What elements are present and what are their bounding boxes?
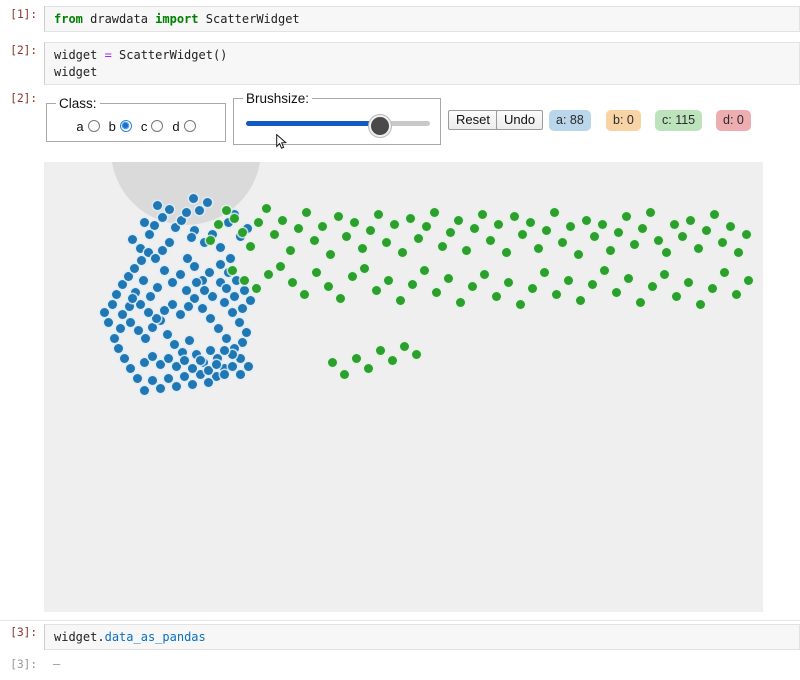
scatter-point-class-c: [566, 222, 575, 231]
radio-option-d[interactable]: d: [172, 119, 195, 134]
scatter-point-class-a: [206, 346, 215, 355]
scatter-point-class-a: [114, 344, 123, 353]
scatter-point-class-c: [660, 270, 669, 279]
scatter-point-class-c: [696, 300, 705, 309]
counter-badge-b: b: 0: [606, 110, 641, 131]
scatter-point-class-a: [120, 354, 129, 363]
scatter-point-class-a: [242, 328, 251, 337]
radio-option-c[interactable]: c: [141, 119, 164, 134]
scatter-point-class-c: [376, 346, 385, 355]
scatter-point-class-a: [168, 278, 177, 287]
scatter-point-class-a: [176, 270, 185, 279]
scatter-point-class-c: [636, 298, 645, 307]
scatter-point-class-a: [190, 262, 199, 271]
brushsize-group: Brushsize:: [233, 91, 441, 145]
scatter-point-class-c: [328, 358, 337, 367]
scatter-point-class-c: [446, 228, 455, 237]
scatter-point-class-c: [686, 216, 695, 225]
scatter-point-class-a: [206, 314, 215, 323]
scatter-point-class-a: [148, 352, 157, 361]
brushsize-slider[interactable]: [246, 110, 430, 140]
scatter-point-class-a: [222, 334, 231, 343]
scatter-point-class-c: [214, 220, 223, 229]
code-token-plain: widget: [54, 65, 97, 79]
scatter-point-class-a: [133, 374, 142, 383]
scatter-point-class-c: [364, 364, 373, 373]
class-selector-group: Class: a b c d: [46, 96, 226, 142]
scatter-point-class-a: [158, 213, 167, 222]
scatter-point-class-c: [470, 224, 479, 233]
scatter-point-class-c: [276, 262, 285, 271]
undo-button[interactable]: Undo: [496, 110, 543, 130]
scatter-widget: Class: a b c d: [44, 88, 800, 616]
scatter-point-class-c: [486, 236, 495, 245]
radio-label-c: c: [141, 119, 148, 134]
scatter-point-class-a: [189, 194, 198, 203]
scatter-point-class-c: [406, 214, 415, 223]
widget-controls: Class: a b c d: [44, 88, 800, 150]
scatter-point-class-c: [590, 232, 599, 241]
scatter-point-class-c: [246, 242, 255, 251]
scatter-point-class-c: [278, 216, 287, 225]
notebook-cell-3: [3]: widget.data_as_pandas: [0, 624, 800, 650]
scatter-point-class-a: [244, 362, 253, 371]
cell-prompt-3: [3]:: [0, 624, 44, 641]
scatter-point-class-c: [432, 288, 441, 297]
scatter-point-class-a: [110, 334, 119, 343]
scatter-point-class-c: [420, 266, 429, 275]
scatter-point-class-a: [144, 308, 153, 317]
scatter-point-class-c: [438, 242, 447, 251]
scatter-point-class-a: [246, 296, 255, 305]
mouse-cursor-icon: [276, 134, 287, 149]
scatter-point-class-c: [264, 270, 273, 279]
scatter-point-class-a: [134, 326, 143, 335]
radio-input-c[interactable]: [151, 120, 163, 132]
scatter-point-class-a: [140, 386, 149, 395]
scatter-point-class-a: [212, 360, 221, 369]
scatter-point-class-a: [236, 354, 245, 363]
scatter-point-class-c: [262, 204, 271, 213]
scatter-point-class-a: [141, 334, 150, 343]
scatter-point-class-c: [478, 210, 487, 219]
scatter-plot-canvas[interactable]: [44, 162, 763, 612]
scatter-point-class-a: [140, 218, 149, 227]
scatter-point-class-a: [140, 358, 149, 367]
scatter-point-class-c: [734, 248, 743, 257]
scatter-point-class-c: [336, 294, 345, 303]
scatter-point-class-a: [164, 374, 173, 383]
scatter-point-class-c: [396, 296, 405, 305]
scatter-point-class-a: [153, 283, 162, 292]
scatter-point-class-c: [540, 268, 549, 277]
scatter-point-class-a: [156, 384, 165, 393]
scatter-point-class-a: [236, 370, 245, 379]
counter-badge-c: c: 115: [655, 110, 702, 131]
scatter-point-class-c: [310, 236, 319, 245]
scatter-point-class-c: [334, 212, 343, 221]
scatter-point-class-a: [100, 308, 109, 317]
scatter-point-class-c: [366, 226, 375, 235]
scatter-point-class-c: [206, 236, 215, 245]
scatter-point-class-a: [146, 292, 155, 301]
scatter-point-class-c: [622, 212, 631, 221]
scatter-point-class-c: [504, 278, 513, 287]
scatter-point-class-a: [104, 318, 113, 327]
code-token-keyword: from: [54, 12, 83, 26]
brushsize-group-legend: Brushsize:: [243, 91, 312, 106]
scatter-point-class-c: [480, 270, 489, 279]
scatter-point-class-a: [205, 268, 214, 277]
scatter-point-class-c: [384, 276, 393, 285]
scatter-point-class-c: [612, 288, 621, 297]
scatter-point-class-c: [558, 238, 567, 247]
scatter-point-class-a: [139, 276, 148, 285]
code-token-plain: drawdata: [83, 12, 155, 26]
scatter-point-class-c: [720, 268, 729, 277]
scatter-point-class-a: [185, 336, 194, 345]
scatter-point-class-a: [172, 362, 181, 371]
scatter-point-class-a: [126, 318, 135, 327]
scatter-point-class-c: [286, 246, 295, 255]
scatter-point-class-c: [318, 222, 327, 231]
scatter-point-class-c: [422, 222, 431, 231]
scatter-point-class-c: [444, 274, 453, 283]
scatter-point-class-c: [516, 300, 525, 309]
notebook-cell-2: [2]: widget = ScatterWidget() widget: [0, 42, 800, 85]
scatter-point-class-a: [151, 254, 160, 263]
scatter-point-class-a: [125, 302, 134, 311]
scatter-point-class-a: [160, 266, 169, 275]
scatter-point-class-c: [350, 218, 359, 227]
scatter-point-class-a: [216, 243, 225, 252]
scatter-point-class-c: [358, 244, 367, 253]
scatter-point-class-a: [214, 324, 223, 333]
notebook-output-3: [3]: —: [0, 656, 800, 673]
scatter-point-class-c: [744, 276, 753, 285]
scatter-point-class-c: [574, 250, 583, 259]
code-token-plain: ScatterWidget: [199, 12, 300, 26]
scatter-point-class-a: [220, 298, 229, 307]
class-group-legend: Class:: [56, 96, 100, 111]
scatter-point-class-a: [180, 356, 189, 365]
radio-label-a: a: [76, 119, 83, 134]
scatter-point-class-c: [518, 230, 527, 239]
scatter-point-class-c: [742, 230, 751, 239]
scatter-point-class-c: [510, 212, 519, 221]
scatter-point-class-c: [360, 264, 369, 273]
scatter-point-class-c: [708, 284, 717, 293]
code-token-operator: =: [105, 48, 112, 62]
scatter-point-class-c: [624, 274, 633, 283]
scatter-point-class-a: [180, 372, 189, 381]
scatter-point-class-a: [118, 310, 127, 319]
scatter-point-class-a: [152, 314, 161, 323]
scatter-point-class-c: [240, 276, 249, 285]
scatter-point-class-a: [136, 300, 145, 309]
scatter-point-class-c: [388, 356, 397, 365]
scatter-point-class-a: [216, 260, 225, 269]
scatter-point-class-c: [684, 278, 693, 287]
radio-input-a[interactable]: [88, 120, 100, 132]
cell-prompt-1: [1]:: [0, 6, 44, 23]
scatter-point-class-c: [254, 218, 263, 227]
scatter-point-class-a: [148, 323, 157, 332]
scatter-point-class-a: [112, 290, 121, 299]
scatter-point-class-c: [614, 228, 623, 237]
scatter-point-class-c: [352, 354, 361, 363]
scatter-point-class-a: [198, 304, 207, 313]
scatter-point-class-c: [528, 284, 537, 293]
scatter-point-class-c: [414, 234, 423, 243]
scatter-point-class-c: [564, 276, 573, 285]
scatter-point-class-c: [456, 298, 465, 307]
scatter-point-class-a: [222, 284, 231, 293]
scatter-point-class-c: [694, 244, 703, 253]
scatter-point-class-a: [183, 254, 192, 263]
scatter-plot-surface[interactable]: [44, 162, 763, 612]
scatter-point-class-c: [710, 210, 719, 219]
cell-output-text-3: —: [44, 656, 60, 673]
scatter-point-class-a: [116, 324, 125, 333]
scatter-point-class-c: [600, 266, 609, 275]
scatter-point-class-c: [398, 248, 407, 257]
code-token-keyword: import: [155, 12, 198, 26]
scatter-point-class-a: [220, 346, 229, 355]
scatter-point-class-a: [184, 302, 193, 311]
scatter-point-class-c: [342, 232, 351, 241]
code-token-plain: widget: [54, 48, 105, 62]
scatter-point-class-a: [204, 366, 213, 375]
scatter-point-class-a: [188, 364, 197, 373]
code-token-plain: widget: [54, 630, 97, 644]
scatter-point-class-a: [118, 280, 127, 289]
scatter-point-class-c: [534, 244, 543, 253]
scatter-point-class-c: [648, 282, 657, 291]
scatter-point-class-c: [552, 290, 561, 299]
counter-badge-a: a: 88: [549, 110, 591, 131]
scatter-point-class-a: [238, 304, 247, 313]
scatter-point-class-c: [454, 216, 463, 225]
scatter-point-class-a: [228, 308, 237, 317]
scatter-point-class-a: [128, 294, 137, 303]
counter-badge-d: d: 0: [716, 110, 751, 131]
code-editor-2[interactable]: widget = ScatterWidget() widget: [44, 42, 800, 85]
scatter-point-class-a: [187, 233, 196, 242]
scatter-point-class-c: [412, 350, 421, 359]
scatter-point-class-a: [240, 286, 249, 295]
scatter-point-class-c: [288, 278, 297, 287]
scatter-point-class-a: [170, 340, 179, 349]
radio-option-a[interactable]: a: [76, 119, 99, 134]
scatter-point-class-c: [492, 292, 501, 301]
scatter-point-class-c: [340, 370, 349, 379]
scatter-point-class-c: [468, 282, 477, 291]
scatter-point-class-c: [324, 282, 333, 291]
scatter-point-class-c: [312, 268, 321, 277]
scatter-point-class-a: [145, 230, 154, 239]
code-token-plain: ScatterWidget(): [112, 48, 228, 62]
code-editor-3[interactable]: widget.data_as_pandas: [44, 624, 800, 650]
scatter-point-class-a: [168, 300, 177, 309]
scatter-point-class-a: [164, 354, 173, 363]
radio-label-b: b: [109, 119, 116, 134]
scatter-point-class-c: [588, 280, 597, 289]
scatter-point-class-a: [200, 286, 209, 295]
scatter-point-class-a: [150, 221, 159, 230]
scatter-point-class-c: [382, 238, 391, 247]
scatter-point-class-c: [390, 220, 399, 229]
scatter-point-class-a: [228, 362, 237, 371]
scatter-point-class-a: [153, 201, 162, 210]
scatter-point-class-c: [252, 284, 261, 293]
scatter-point-class-c: [732, 290, 741, 299]
scatter-point-class-c: [662, 248, 671, 257]
notebook-page: [1]: from drawdata import ScatterWidget …: [0, 0, 800, 680]
radio-input-b[interactable]: [120, 120, 132, 132]
scatter-point-class-c: [670, 220, 679, 229]
scatter-point-class-a: [220, 370, 229, 379]
scatter-point-class-a: [128, 235, 137, 244]
scatter-point-class-a: [203, 198, 212, 207]
scatter-point-class-c: [638, 224, 647, 233]
scatter-point-class-a: [238, 338, 247, 347]
scatter-point-class-c: [372, 286, 381, 295]
slider-thumb[interactable]: [369, 115, 391, 137]
scatter-point-class-c: [702, 226, 711, 235]
reset-button[interactable]: Reset: [448, 110, 498, 130]
scatter-point-class-a: [130, 264, 139, 273]
scatter-point-class-c: [400, 342, 409, 351]
radio-input-d[interactable]: [184, 120, 196, 132]
scatter-point-class-a: [182, 286, 191, 295]
notebook-cell-1: [1]: from drawdata import ScatterWidget: [0, 6, 800, 32]
scatter-point-class-a: [192, 278, 201, 287]
scatter-point-class-a: [172, 382, 181, 391]
scatter-point-class-c: [408, 280, 417, 289]
scatter-point-class-a: [148, 376, 157, 385]
scatter-point-class-a: [190, 294, 199, 303]
scatter-point-class-c: [230, 214, 239, 223]
scatter-point-class-a: [176, 310, 185, 319]
scatter-point-class-a: [126, 364, 135, 373]
scatter-point-class-c: [582, 216, 591, 225]
scatter-point-class-a: [204, 378, 213, 387]
scatter-point-class-c: [374, 210, 383, 219]
scatter-point-class-a: [235, 318, 244, 327]
scatter-point-class-a: [163, 330, 172, 339]
scatter-point-class-a: [188, 380, 197, 389]
scatter-point-class-a: [165, 238, 174, 247]
scatter-point-class-c: [270, 230, 279, 239]
scatter-point-class-c: [678, 232, 687, 241]
scatter-point-class-a: [208, 292, 217, 301]
scatter-point-class-c: [630, 240, 639, 249]
cell-output-prompt-3: [3]:: [0, 656, 44, 673]
scatter-point-class-a: [230, 292, 239, 301]
code-token-attribute: data_as_pandas: [105, 630, 206, 644]
scatter-point-class-c: [598, 220, 607, 229]
scatter-point-class-c: [526, 218, 535, 227]
scatter-point-class-c: [430, 208, 439, 217]
scatter-point-class-a: [108, 300, 117, 309]
scatter-point-class-c: [300, 290, 309, 299]
cell-prompt-2: [2]:: [0, 42, 44, 59]
scatter-point-class-c: [502, 248, 511, 257]
scatter-point-class-a: [124, 272, 133, 281]
scatter-point-class-c: [654, 236, 663, 245]
scatter-point-class-c: [718, 238, 727, 247]
scatter-point-class-c: [606, 246, 615, 255]
scatter-point-class-c: [238, 228, 247, 237]
scatter-point-class-a: [196, 356, 205, 365]
radio-label-d: d: [172, 119, 179, 134]
scatter-point-class-c: [646, 208, 655, 217]
scatter-point-class-a: [177, 216, 186, 225]
scatter-point-class-c: [348, 272, 357, 281]
scatter-point-class-c: [294, 224, 303, 233]
scatter-point-class-a: [182, 208, 191, 217]
cell-divider: [0, 620, 800, 621]
scatter-point-class-c: [222, 206, 231, 215]
scatter-point-class-c: [672, 292, 681, 301]
class-radio-row: a b c d: [47, 111, 225, 139]
scatter-point-class-c: [302, 208, 311, 217]
scatter-point-class-a: [137, 256, 146, 265]
code-editor-1[interactable]: from drawdata import ScatterWidget: [44, 6, 800, 32]
scatter-point-class-c: [550, 208, 559, 217]
scatter-point-class-c: [494, 220, 503, 229]
slider-fill: [246, 121, 378, 126]
cell-output-prompt-2: [2]:: [0, 90, 44, 107]
scatter-point-class-c: [542, 226, 551, 235]
scatter-point-class-c: [576, 296, 585, 305]
scatter-point-class-a: [160, 306, 169, 315]
scatter-point-class-c: [228, 266, 237, 275]
scatter-point-class-a: [165, 205, 174, 214]
scatter-point-class-a: [228, 350, 237, 359]
scatter-point-class-c: [326, 250, 335, 259]
scatter-point-class-a: [226, 254, 235, 263]
scatter-point-class-a: [158, 246, 167, 255]
scatter-point-class-c: [462, 246, 471, 255]
scatter-point-class-a: [156, 360, 165, 369]
scatter-point-class-c: [726, 222, 735, 231]
code-token-plain: .: [97, 630, 104, 644]
radio-option-b[interactable]: b: [109, 119, 132, 134]
scatter-point-class-a: [195, 206, 204, 215]
